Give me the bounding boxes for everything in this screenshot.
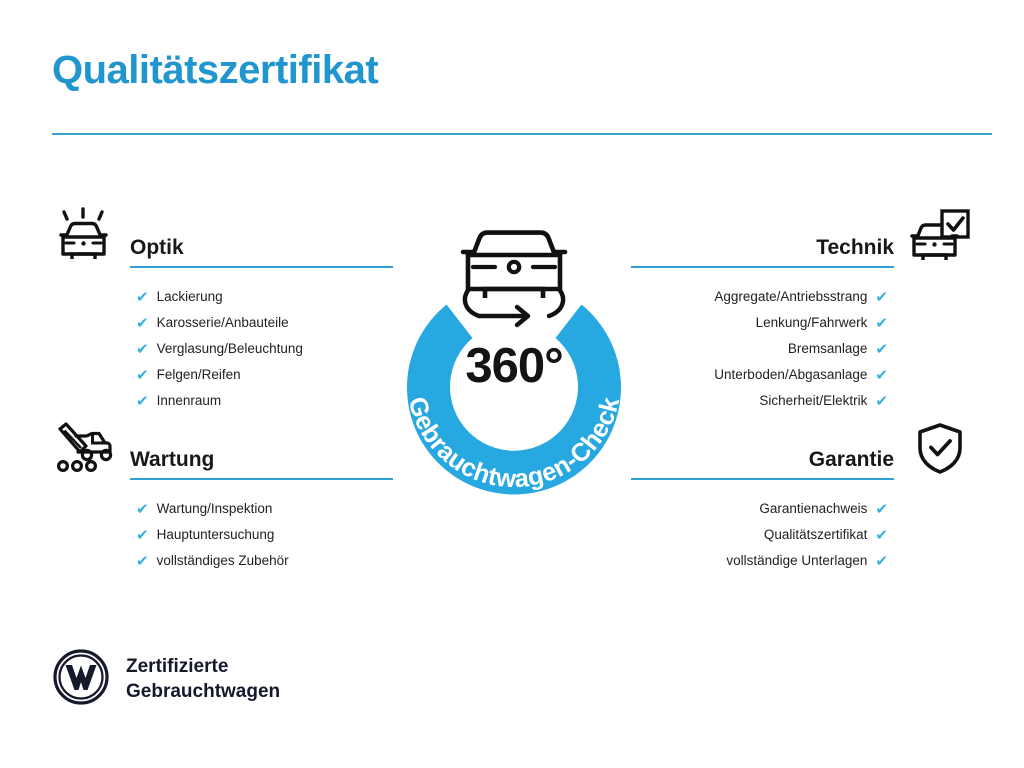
list-item: ✔vollständiges Zubehör [48,548,393,574]
section-header: Wartung [48,412,393,480]
section-header: Technik [631,200,976,268]
list-item-label: Sicherheit/Elektrik [759,394,867,408]
section-header: Garantie [631,412,976,480]
list-item-label: Karosserie/Anbauteile [157,316,289,330]
list-item: ✔Aggregate/Antriebsstrang [631,284,976,310]
badge-degree-label: 360° [383,342,645,391]
check-icon: ✔ [875,394,888,409]
list-item: ✔Qualitätszertifikat [631,522,976,548]
section-technik: Technik ✔Aggregate/Antriebsstrang ✔Lenku… [631,200,976,414]
shield-check-icon [904,416,976,480]
checklist-optik: ✔Lackierung ✔Karosserie/Anbauteile ✔Verg… [48,284,393,414]
list-item: ✔Lenkung/Fahrwerk [631,310,976,336]
360-check-badge: Gebrauchtwagen-Check 360° [383,195,645,515]
section-underline [631,266,894,268]
check-icon: ✔ [136,290,149,305]
list-item: ✔Bremsanlage [631,336,976,362]
section-underline [130,266,393,268]
check-icon: ✔ [136,528,149,543]
list-item-label: Wartung/Inspektion [157,502,273,516]
list-item-label: Aggregate/Antriebsstrang [714,290,867,304]
list-item-label: Qualitätszertifikat [764,528,868,542]
check-icon: ✔ [875,554,888,569]
list-item-label: vollständige Unterlagen [726,554,867,568]
check-icon: ✔ [136,502,149,517]
section-title: Wartung [130,448,393,471]
list-item-label: Verglasung/Beleuchtung [157,342,303,356]
list-item: ✔Verglasung/Beleuchtung [48,336,393,362]
list-item: ✔Innenraum [48,388,393,414]
header-divider [52,133,992,135]
check-icon: ✔ [875,342,888,357]
list-item-label: Felgen/Reifen [157,368,241,382]
check-icon: ✔ [136,368,149,383]
check-icon: ✔ [136,316,149,331]
checklist-wartung: ✔Wartung/Inspektion ✔Hauptuntersuchung ✔… [48,496,393,574]
list-item: ✔Hauptuntersuchung [48,522,393,548]
check-icon: ✔ [875,528,888,543]
page-title: Qualitätszertifikat [52,48,378,92]
section-underline [130,478,393,480]
section-optik: Optik ✔Lackierung ✔Karosserie/Anbauteile… [48,200,393,414]
list-item-label: Lenkung/Fahrwerk [756,316,868,330]
section-header: Optik [48,200,393,268]
vw-wordmark-line2: Gebrauchtwagen [126,680,280,704]
wrench-car-icon [48,416,120,480]
check-icon: ✔ [136,554,149,569]
car-checkbox-icon [904,204,976,268]
list-item: ✔Sicherheit/Elektrik [631,388,976,414]
list-item-label: vollständiges Zubehör [157,554,289,568]
vw-wordmark: Zertifizierte Gebrauchtwagen [126,655,280,704]
checklist-technik: ✔Aggregate/Antriebsstrang ✔Lenkung/Fahrw… [631,284,976,414]
list-item: ✔Wartung/Inspektion [48,496,393,522]
list-item: ✔Unterboden/Abgasanlage [631,362,976,388]
check-icon: ✔ [136,342,149,357]
list-item-label: Lackierung [157,290,223,304]
check-icon: ✔ [875,368,888,383]
check-icon: ✔ [875,290,888,305]
section-title: Technik [631,236,894,259]
section-garantie: Garantie ✔Garantienachweis ✔Qualitätszer… [631,412,976,574]
check-icon: ✔ [136,394,149,409]
list-item-label: Garantienachweis [759,502,867,516]
list-item: ✔Garantienachweis [631,496,976,522]
list-item-label: Bremsanlage [788,342,868,356]
vw-wordmark-line1: Zertifizierte [126,655,280,679]
certificate-page: Qualitätszertifikat [0,0,1024,768]
section-title: Optik [130,236,393,259]
list-item: ✔Felgen/Reifen [48,362,393,388]
list-item-label: Innenraum [157,394,222,408]
section-title: Garantie [631,448,894,471]
car-shine-icon [48,204,120,268]
checklist-garantie: ✔Garantienachweis ✔Qualitätszertifikat ✔… [631,496,976,574]
vw-footer: Zertifizierte Gebrauchtwagen [52,648,280,711]
check-icon: ✔ [875,316,888,331]
check-icon: ✔ [875,502,888,517]
car-rotate-icon [463,233,565,325]
list-item-label: Hauptuntersuchung [157,528,275,542]
list-item: ✔vollständige Unterlagen [631,548,976,574]
list-item-label: Unterboden/Abgasanlage [714,368,867,382]
list-item: ✔Karosserie/Anbauteile [48,310,393,336]
section-underline [631,478,894,480]
section-wartung: Wartung ✔Wartung/Inspektion ✔Hauptunters… [48,412,393,574]
list-item: ✔Lackierung [48,284,393,310]
vw-logo [52,648,110,711]
